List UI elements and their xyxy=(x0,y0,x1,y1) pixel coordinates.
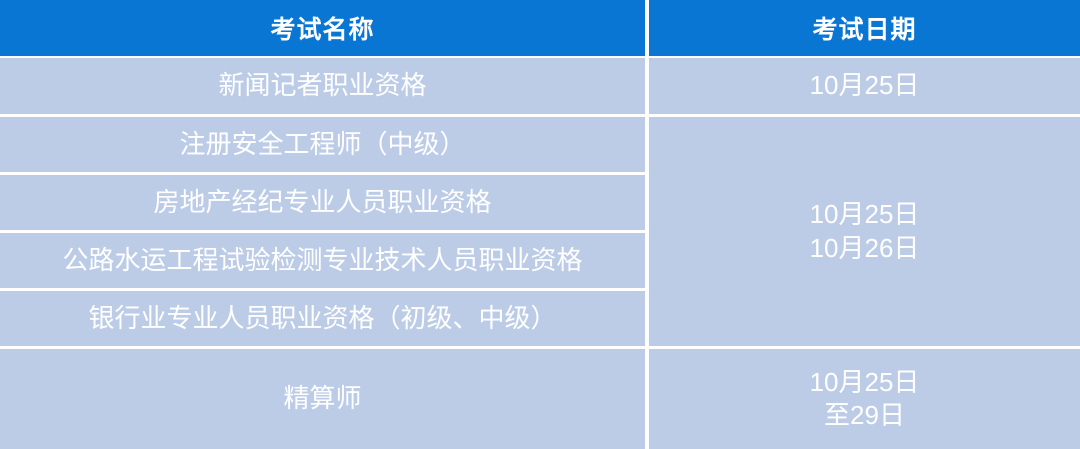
date-line: 10月25日 xyxy=(810,69,920,102)
date-cell-merged: 10月25日 10月26日 xyxy=(649,117,1080,346)
table-body: 新闻记者职业资格 注册安全工程师（中级） 房地产经纪专业人员职业资格 公路水运工… xyxy=(0,56,1080,449)
table-row: 注册安全工程师（中级） xyxy=(0,117,645,172)
column-exam-name: 新闻记者职业资格 注册安全工程师（中级） 房地产经纪专业人员职业资格 公路水运工… xyxy=(0,58,645,449)
column-header-exam-name: 考试名称 xyxy=(0,0,645,56)
date-line: 至29日 xyxy=(824,399,905,432)
table-row: 银行业专业人员职业资格（初级、中级） xyxy=(0,291,645,346)
date-line: 10月25日 xyxy=(810,366,920,399)
date-cell-lines: 10月25日 10月26日 xyxy=(810,198,920,265)
table-row: 公路水运工程试验检测专业技术人员职业资格 xyxy=(0,233,645,288)
date-cell-lines: 10月25日 至29日 xyxy=(810,366,920,433)
exam-schedule-table: 考试名称 考试日期 新闻记者职业资格 注册安全工程师（中级） 房地产经纪专业人员… xyxy=(0,0,1080,449)
date-cell-single: 10月25日 xyxy=(649,58,1080,114)
date-cell-lines: 10月25日 xyxy=(810,69,920,102)
date-cell-range: 10月25日 至29日 xyxy=(649,349,1080,449)
table-row: 房地产经纪专业人员职业资格 xyxy=(0,175,645,230)
column-exam-date: 10月25日 10月25日 10月26日 10月25日 至29日 xyxy=(649,58,1080,449)
table-row: 精算师 xyxy=(0,349,645,449)
table-row: 新闻记者职业资格 xyxy=(0,58,645,114)
date-line: 10月26日 xyxy=(810,232,920,265)
date-line: 10月25日 xyxy=(810,198,920,231)
table-header-row: 考试名称 考试日期 xyxy=(0,0,1080,56)
column-header-exam-date: 考试日期 xyxy=(649,0,1080,56)
